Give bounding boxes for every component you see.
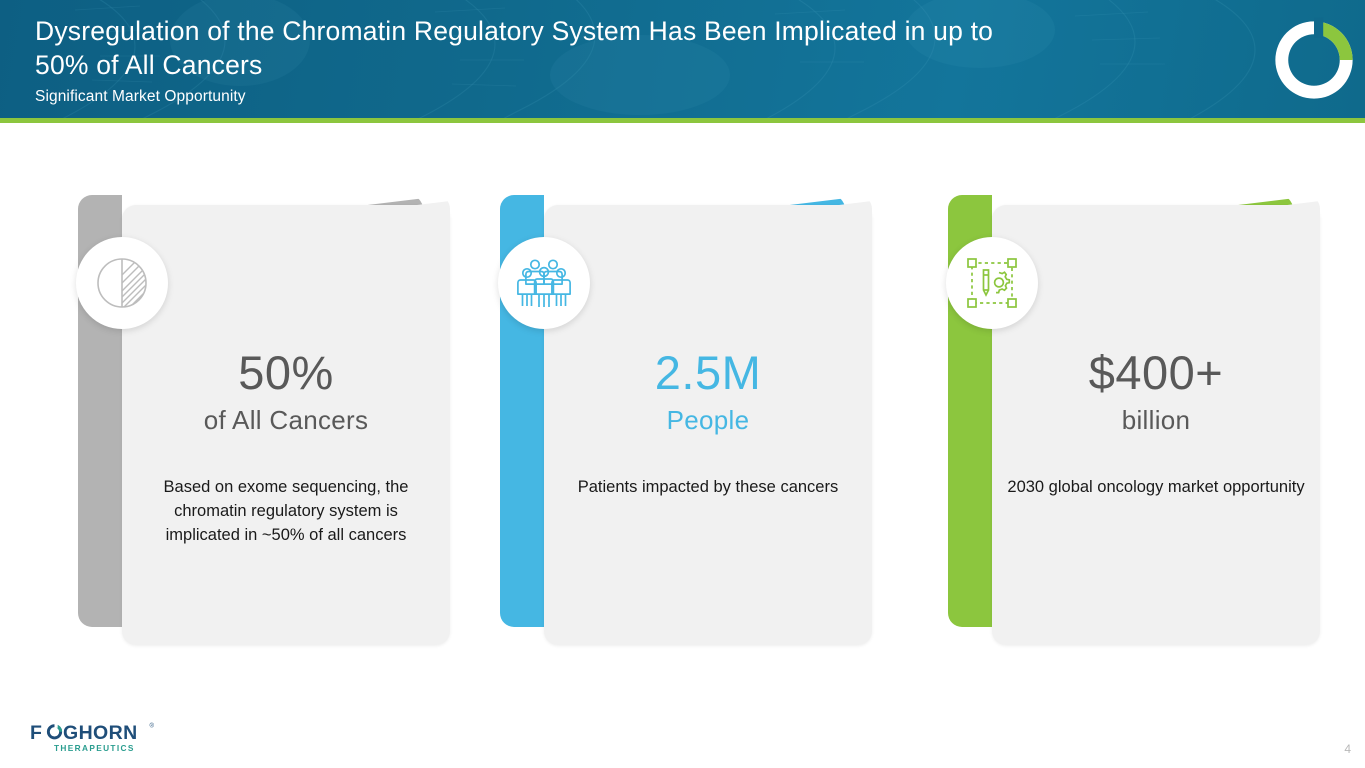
pencil-gear-design-icon	[963, 254, 1021, 312]
brand-wordmark-part1: F	[30, 722, 42, 744]
card-3-number: $400+	[992, 345, 1320, 401]
card-2-label: People	[544, 403, 872, 437]
slide-header: Dysregulation of the Chromatin Regulator…	[0, 0, 1365, 118]
card-1-description: Based on exome sequencing, the chromatin…	[122, 475, 450, 547]
card-2-icon-badge	[498, 237, 590, 329]
page-number: 4	[1344, 742, 1351, 756]
card-2-text: 2.5M People Patients impacted by these c…	[544, 345, 872, 499]
foghorn-c-mark-icon	[1268, 14, 1360, 106]
stat-card-2[interactable]: 2.5M People Patients impacted by these c…	[492, 195, 892, 655]
brand-wordmark-part2: GHORN	[63, 722, 138, 744]
slide-title: Dysregulation of the Chromatin Regulator…	[35, 14, 1245, 82]
card-3-description: 2030 global oncology market opportunity	[992, 475, 1320, 499]
card-1-number: 50%	[122, 345, 450, 401]
stat-card-3[interactable]: $400+ billion 2030 global oncology marke…	[940, 195, 1340, 655]
card-2-number: 2.5M	[544, 345, 872, 401]
stat-card-1[interactable]: 50% of All Cancers Based on exome sequen…	[70, 195, 470, 655]
brand-tagline: THERAPEUTICS	[54, 743, 135, 753]
card-1-label: of All Cancers	[122, 403, 450, 437]
card-3-text: $400+ billion 2030 global oncology marke…	[992, 345, 1320, 499]
card-3-label: billion	[992, 403, 1320, 437]
slide-subtitle: Significant Market Opportunity	[35, 88, 246, 106]
half-shaded-circle-icon	[93, 254, 151, 312]
card-2-description: Patients impacted by these cancers	[544, 475, 872, 499]
card-1-icon-badge	[76, 237, 168, 329]
card-1-text: 50% of All Cancers Based on exome sequen…	[122, 345, 450, 547]
brand-c-mark-icon	[47, 723, 62, 740]
foghorn-therapeutics-logo: F GHORN ® THERAPEUTICS	[30, 720, 180, 756]
stat-cards-row: 50% of All Cancers Based on exome sequen…	[0, 195, 1365, 655]
people-group-icon	[515, 254, 573, 312]
card-3-icon-badge	[946, 237, 1038, 329]
brand-trademark-mark: ®	[150, 723, 155, 730]
header-accent-divider	[0, 123, 1365, 125]
